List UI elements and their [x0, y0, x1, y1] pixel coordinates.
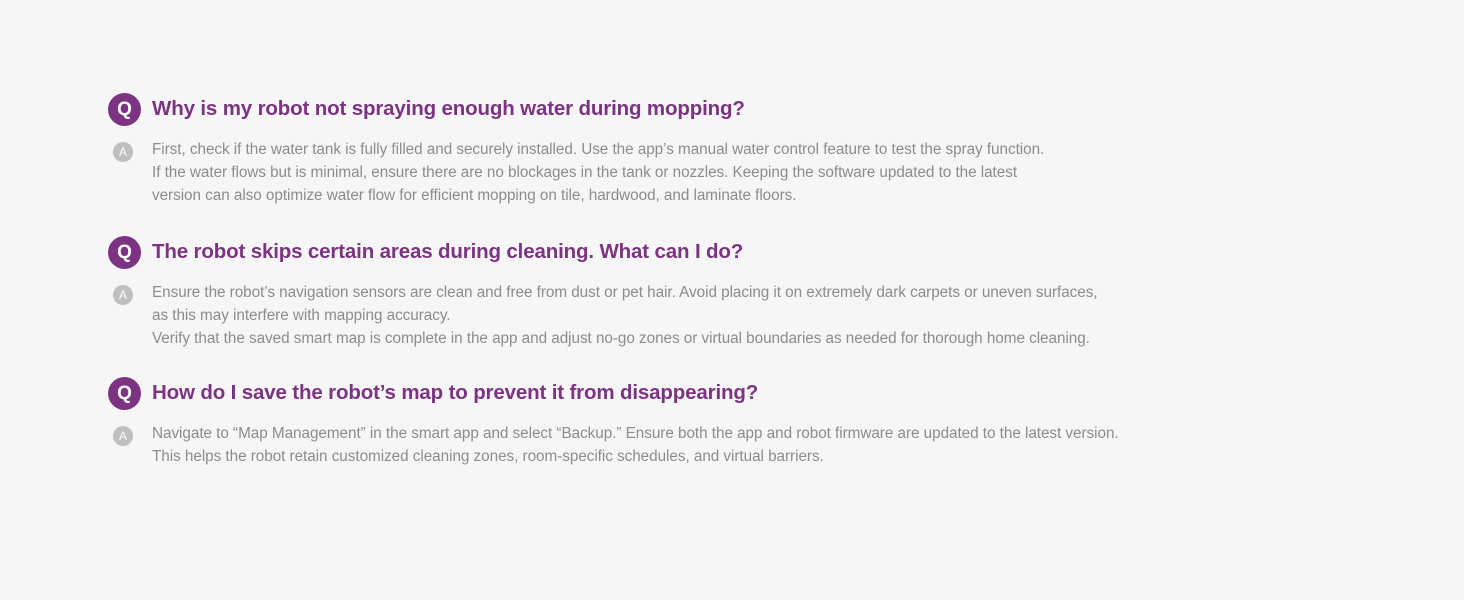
- faq-question-text[interactable]: Why is my robot not spraying enough wate…: [152, 97, 745, 122]
- faq-list: Q Why is my robot not spraying enough wa…: [108, 93, 1464, 468]
- faq-answer-row: A Ensure the robot’s navigation sensors …: [108, 281, 1464, 350]
- faq-answer-line: as this may interfere with mapping accur…: [152, 304, 1098, 327]
- faq-question-row[interactable]: Q How do I save the robot’s map to preve…: [108, 377, 1464, 410]
- faq-question-row[interactable]: Q The robot skips certain areas during c…: [108, 236, 1464, 269]
- faq-answer-body: First, check if the water tank is fully …: [152, 138, 1044, 207]
- faq-answer-line: Navigate to “Map Management” in the smar…: [152, 422, 1119, 445]
- faq-answer-line: First, check if the water tank is fully …: [152, 138, 1044, 161]
- faq-answer-line: version can also optimize water flow for…: [152, 184, 1044, 207]
- faq-item: Q Why is my robot not spraying enough wa…: [108, 93, 1464, 207]
- faq-answer-row: A Navigate to “Map Management” in the sm…: [108, 422, 1464, 468]
- faq-answer-body: Ensure the robot’s navigation sensors ar…: [152, 281, 1098, 350]
- faq-answer-line: Verify that the saved smart map is compl…: [152, 327, 1098, 350]
- faq-answer-row: A First, check if the water tank is full…: [108, 138, 1464, 207]
- answer-badge-icon: A: [113, 285, 133, 305]
- faq-answer-line: If the water flows but is minimal, ensur…: [152, 161, 1044, 184]
- faq-item: Q The robot skips certain areas during c…: [108, 236, 1464, 350]
- question-badge-icon: Q: [108, 93, 141, 126]
- faq-answer-body: Navigate to “Map Management” in the smar…: [152, 422, 1119, 468]
- faq-question-text[interactable]: The robot skips certain areas during cle…: [152, 240, 743, 265]
- faq-question-text[interactable]: How do I save the robot’s map to prevent…: [152, 381, 758, 406]
- faq-answer-line: Ensure the robot’s navigation sensors ar…: [152, 281, 1098, 304]
- question-badge-icon: Q: [108, 236, 141, 269]
- question-badge-icon: Q: [108, 377, 141, 410]
- faq-page: Q Why is my robot not spraying enough wa…: [0, 0, 1464, 600]
- answer-badge-icon: A: [113, 426, 133, 446]
- faq-item: Q How do I save the robot’s map to preve…: [108, 377, 1464, 468]
- faq-question-row[interactable]: Q Why is my robot not spraying enough wa…: [108, 93, 1464, 126]
- faq-answer-line: This helps the robot retain customized c…: [152, 445, 1119, 468]
- answer-badge-icon: A: [113, 142, 133, 162]
